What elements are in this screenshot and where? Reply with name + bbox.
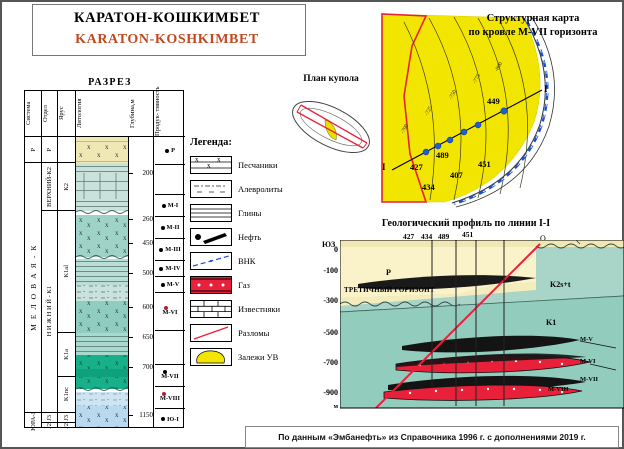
well-label: 434 [422,182,435,192]
legend-item: Алевролиты [190,177,308,201]
system-paleogene: Р [25,137,41,163]
svg-text:x: x [207,162,211,170]
unit-label-k1: K1 [546,318,556,327]
oil-dot-icon [161,226,165,230]
oil-symbol-icon [190,228,232,246]
legend-label: Нефть [238,232,261,242]
productivity-marker [155,165,185,195]
clay-pattern-icon [190,204,232,222]
well-label: 451 [478,159,491,169]
well-label: 427 [410,162,423,172]
header-depth: Глубина,м [129,91,153,137]
profile-line-start-label: I [382,162,386,172]
productivity-marker: М-IV [155,261,185,277]
axis-unit-label: м [314,403,338,410]
profile-well-label: 451 [462,230,473,239]
source-footer: По данным «Эмбанефть» из Справочника 199… [245,426,619,448]
column-division: Отдел Р ВЕРХНИЙ-К2 Н И Ж Н И Й - К1 J3 J… [42,91,58,427]
division-lower-cretaceous: Н И Ж Н И Й - К1 [42,211,57,413]
productivity-marker [155,331,185,365]
gas-symbol-icon [190,276,232,294]
legend-label: Разломы [238,328,269,338]
well-label: 407 [450,170,463,180]
svg-text:x: x [217,157,221,164]
legend-label: ВНК [238,256,255,266]
legend-label: Глины [238,208,261,218]
legend-item: Газ [190,273,308,297]
productivity-marker: М-III [155,239,185,261]
sandstone-pattern-icon: x x x [190,156,232,174]
geological-profile: Геологический профиль по линии I-I ЮЗ СВ… [308,218,624,418]
hydrocarbon-deposit-icon [190,348,232,366]
stage-j2: J2 [58,423,75,429]
lithology-strip: x x [76,137,129,427]
productivity-marker: М-VII [155,365,185,387]
siltstone-pattern-icon [190,180,232,198]
unit-label-tertiary: ТРЕТИЧНЫЙ ГОРИЗОНТ [344,286,435,294]
stage-j3: J3 [58,413,75,423]
stage-p [58,137,75,163]
oil-dot-icon [159,248,163,252]
axis-tick-label: -700 [308,358,338,367]
column-system: Система Р М Е Л О В А Я - К ЮРА-J [25,91,42,427]
oil-dot-icon [159,267,163,271]
productivity-marker: М-V [155,277,185,293]
productivity-marker: М-VI [155,293,185,331]
stage-k1al: K1al [58,211,75,333]
productivity-marker: М-II [155,217,185,239]
oil-dot-icon [161,417,165,421]
axis-tick-label: -300 [308,296,338,305]
axis-tick-label: -100 [308,266,338,275]
legend-item: Нефть [190,225,308,249]
section-label: РАЗРЕЗ [30,77,190,88]
header-productivity: Продук- тивность [154,91,185,137]
oil-dot-icon [161,283,165,287]
legend-item: Залежи УВ [190,345,308,369]
fault-symbol-icon [190,324,232,342]
division-j3: J3 [42,413,57,423]
productivity-marker: М-I [155,195,185,217]
oil-dot-icon [162,204,166,208]
legend-label: Залежи УВ [238,352,278,362]
axis-tick-label: 0 [308,245,338,254]
stratigraphic-column: Система Р М Е Л О В А Я - К ЮРА-J Отдел … [24,90,184,428]
profile-title: Геологический профиль по линии I-I [308,218,624,229]
horizon-label: M-V [580,336,593,343]
system-jurassic: ЮРА-J [25,413,41,429]
stage-k1a: K1a [58,333,75,377]
owc-symbol-icon [190,252,232,270]
source-text: По данным «Эмбанефть» из Справочника 199… [278,432,586,442]
legend-item: Известняки [190,297,308,321]
legend-label: Известняки [238,304,280,314]
title-english: KARATON-KOSHKIMBET [42,32,292,48]
horizon-label: M-VII [580,376,598,383]
productivity-marker: М-VIII [155,387,185,409]
profile-line-end-label: I [544,84,548,94]
well-label: 489 [436,150,449,160]
stage-k2: К2 [58,163,75,211]
stage-k1nc: K1nc [58,377,75,413]
structural-map: Структурная карта по кровле M-VII горизо… [374,4,624,214]
legend-label: Газ [238,280,250,290]
title-russian: КАРАТОН-КОШКИМБЕТ [42,10,292,27]
division-p: Р [42,137,57,163]
header-system: Система [25,91,41,137]
column-depth: Глубина,м [129,91,154,427]
unit-label-paleogene: Р [386,268,391,277]
column-stage: Ярус К2 K1al K1a K1nc J3 J2 [58,91,76,427]
structural-map-title: Структурная карта по кровле M-VII горизо… [444,12,622,40]
profile-graphic [340,240,624,420]
legend-label: Алевролиты [238,184,283,194]
limestone-pattern-icon [190,300,232,318]
oil-dot-icon [165,149,169,153]
horizon-label: M-VI [580,358,596,365]
axis-tick-label: -500 [308,328,338,337]
legend-item: Разломы [190,321,308,345]
header-division: Отдел [42,91,57,137]
legend-item: Глины [190,201,308,225]
lithology-graphic: x x [76,137,129,427]
system-cretaceous: М Е Л О В А Я - К [25,163,41,413]
division-upper-cretaceous: ВЕРХНИЙ-К2 [42,163,57,211]
svg-text:x: x [195,157,199,164]
unit-label-k2: K2s+t [550,280,571,289]
division-j2: J2 [42,423,57,429]
legend-item: ВНК [190,249,308,273]
productivity-marker: Р [155,137,185,165]
header-lithology: Литология [76,91,129,137]
horizon-label: M-VIII [548,386,569,393]
productivity-marker: Ю-I [155,409,185,429]
axis-tick-label: -900 [308,388,338,397]
header-stage: Ярус [58,91,75,137]
well-label: 449 [487,96,500,106]
diagram-page: КАРАТОН-КОШКИМБЕТ KARATON-KOSHKIMBET РАЗ… [0,0,624,449]
